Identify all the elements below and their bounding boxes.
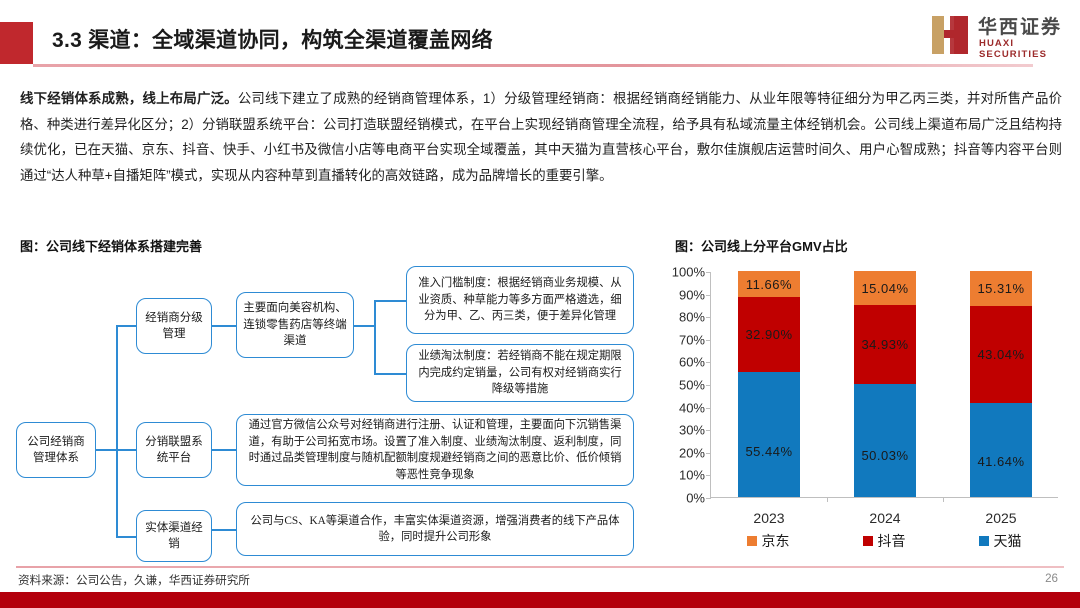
logo-english-text: HUAXI SECURITIES <box>979 38 1066 60</box>
chart-legend-label: 京东 <box>762 531 790 551</box>
chart-segment-label: 43.04% <box>977 347 1024 362</box>
chart-legend-item[interactable]: 抖音 <box>863 531 906 551</box>
chart-legend: 京东抖音天猫 <box>710 530 1058 552</box>
chart-bar-segment-天猫: 50.03% <box>854 384 916 497</box>
chart-segment-label: 15.31% <box>977 281 1024 296</box>
connector-spine <box>116 325 118 537</box>
chart-xtick-mark <box>943 497 944 502</box>
chart-legend-item[interactable]: 京东 <box>747 531 790 551</box>
connector-mid1-out <box>354 325 376 327</box>
logo-chinese-text: 华西证券 <box>978 12 1062 39</box>
diagram-box-mid1-label: 主要面向美容机构、连锁零售药店等终端渠道 <box>237 300 353 350</box>
chart-xtick-label: 2024 <box>840 510 930 526</box>
chart-segment-label: 34.93% <box>861 337 908 352</box>
body-lead: 线下经销体系成熟，线上布局广泛。 <box>20 91 238 106</box>
chart-legend-swatch <box>863 536 873 546</box>
page-title: 3.3 渠道：全域渠道协同，构筑全渠道覆盖网络 <box>52 24 493 54</box>
connector-l3-mid3 <box>212 529 237 531</box>
chart-ytick-mark <box>706 272 711 273</box>
chart-ytick-mark <box>706 317 711 318</box>
diagram-box-detail2-label: 业绩淘汰制度：若经销商不能在规定期限内完成约定销量，公司有权对经销商实行降级等措… <box>407 348 633 398</box>
chart-xtick-label: 2025 <box>956 510 1046 526</box>
figure-caption-right: 图：公司线上分平台GMV占比 <box>675 236 848 255</box>
chart-segment-label: 55.44% <box>745 444 792 459</box>
chart-xtick-label: 2023 <box>724 510 814 526</box>
diagram-box-level1-1: 分销联盟系统平台 <box>136 422 212 478</box>
figure-caption-left: 图：公司线下经销体系搭建完善 <box>20 236 202 255</box>
logo-h-mark <box>930 14 974 56</box>
chart-ytick-label: 40% <box>659 400 705 415</box>
chart-legend-swatch <box>747 536 757 546</box>
chart-segment-label: 11.66% <box>746 277 792 292</box>
chart-ytick-label: 60% <box>659 355 705 370</box>
diagram-box-mid2: 通过官方微信公众号对经销商进行注册、认证和管理，主要面向下沉销售渠道，有助于公司… <box>236 414 634 486</box>
connector-detail-spine <box>374 300 376 373</box>
diagram-box-level1-2-label: 实体渠道经销 <box>137 520 211 552</box>
diagram-box-detail2: 业绩淘汰制度：若经销商不能在规定期限内完成约定销量，公司有权对经销商实行降级等措… <box>406 344 634 402</box>
chart-ytick-label: 0% <box>659 491 705 506</box>
chart-ytick-label: 70% <box>659 332 705 347</box>
chart-ytick-label: 30% <box>659 423 705 438</box>
connector-to-l1 <box>116 325 137 327</box>
chart-ytick-mark <box>706 340 711 341</box>
footer-divider <box>16 566 1064 568</box>
connector-to-detail1 <box>374 300 407 302</box>
chart-segment-label: 15.04% <box>861 281 908 296</box>
connector-to-detail2 <box>374 373 407 375</box>
chart-bar: 55.44%32.90%11.66% <box>738 271 800 497</box>
diagram-box-root-label: 公司经销商管理体系 <box>17 434 95 466</box>
gmv-share-chart: 0%10%20%30%40%50%60%70%80%90%100%55.44%3… <box>662 264 1074 560</box>
diagram-box-level1-1-label: 分销联盟系统平台 <box>137 434 211 466</box>
chart-ytick-label: 90% <box>659 287 705 302</box>
distribution-system-diagram: 公司经销商管理体系 经销商分级管理 分销联盟系统平台 实体渠道经销 主要面向美容… <box>14 262 654 562</box>
diagram-box-level1-0: 经销商分级管理 <box>136 298 212 354</box>
diagram-box-root: 公司经销商管理体系 <box>16 422 96 478</box>
diagram-box-mid1: 主要面向美容机构、连锁零售药店等终端渠道 <box>236 292 354 358</box>
chart-bar-segment-天猫: 55.44% <box>738 372 800 497</box>
chart-bar: 50.03%34.93%15.04% <box>854 271 916 497</box>
chart-ytick-mark <box>706 475 711 476</box>
chart-ytick-label: 50% <box>659 378 705 393</box>
diagram-box-mid3: 公司与CS、KA等渠道合作，丰富实体渠道资源，增强消费者的线下产品体验，同时提升… <box>236 502 634 556</box>
chart-segment-label: 50.03% <box>861 448 908 463</box>
footer-page-number: 26 <box>1045 572 1058 585</box>
chart-ytick-label: 80% <box>659 310 705 325</box>
chart-ytick-label: 10% <box>659 468 705 483</box>
chart-ytick-mark <box>706 430 711 431</box>
chart-segment-label: 32.90% <box>745 327 792 342</box>
chart-bar-segment-京东: 11.66% <box>738 271 800 297</box>
connector-l2-mid2 <box>212 449 237 451</box>
diagram-box-detail1-label: 准入门槛制度：根据经销商业务规模、从业资质、种草能力等多方面严格遴选，细分为甲、… <box>407 275 633 325</box>
chart-ytick-label: 20% <box>659 445 705 460</box>
chart-bar-segment-抖音: 34.93% <box>854 305 916 384</box>
chart-ytick-mark <box>706 408 711 409</box>
chart-ytick-mark <box>706 362 711 363</box>
chart-legend-swatch <box>979 536 989 546</box>
chart-segment-label: 41.64% <box>977 454 1024 469</box>
connector-to-l3 <box>116 536 137 538</box>
title-accent-block <box>0 22 33 64</box>
chart-bar-segment-抖音: 32.90% <box>738 297 800 371</box>
chart-bar: 41.64%43.04%15.31% <box>970 271 1032 497</box>
chart-bar-segment-天猫: 41.64% <box>970 403 1032 497</box>
body-paragraph: 线下经销体系成熟，线上布局广泛。公司线下建立了成熟的经销商管理体系，1）分级管理… <box>20 86 1062 188</box>
chart-ytick-mark <box>706 453 711 454</box>
diagram-box-level1-2: 实体渠道经销 <box>136 510 212 562</box>
chart-ytick-mark <box>706 385 711 386</box>
diagram-box-detail1: 准入门槛制度：根据经销商业务规模、从业资质、种草能力等多方面严格遴选，细分为甲、… <box>406 266 634 334</box>
huaxi-logo: 华西证券 HUAXI SECURITIES <box>926 12 1066 58</box>
connector-root-out <box>96 449 118 451</box>
connector-l1-mid1 <box>212 325 237 327</box>
chart-ytick-label: 100% <box>659 265 705 280</box>
footer-source: 资料来源：公司公告，久谦，华西证券研究所 <box>18 572 250 588</box>
connector-to-l2 <box>116 449 137 451</box>
chart-bar-segment-京东: 15.31% <box>970 271 1032 306</box>
chart-xtick-mark <box>827 497 828 502</box>
diagram-box-mid3-label: 公司与CS、KA等渠道合作，丰富实体渠道资源，增强消费者的线下产品体验，同时提升… <box>237 513 633 546</box>
chart-bar-segment-京东: 15.04% <box>854 271 916 305</box>
chart-legend-label: 抖音 <box>878 531 906 551</box>
chart-legend-item[interactable]: 天猫 <box>979 531 1022 551</box>
diagram-box-mid2-label: 通过官方微信公众号对经销商进行注册、认证和管理，主要面向下沉销售渠道，有助于公司… <box>237 417 633 483</box>
chart-bar-segment-抖音: 43.04% <box>970 306 1032 403</box>
chart-ytick-mark <box>706 295 711 296</box>
title-divider <box>33 64 1033 67</box>
slide-header: 3.3 渠道：全域渠道协同，构筑全渠道覆盖网络 <box>0 22 1080 64</box>
chart-legend-label: 天猫 <box>994 531 1022 551</box>
chart-ytick-mark <box>706 498 711 499</box>
diagram-box-level1-0-label: 经销商分级管理 <box>137 310 211 342</box>
slide-root: 3.3 渠道：全域渠道协同，构筑全渠道覆盖网络 华西证券 HUAXI SECUR… <box>0 0 1080 608</box>
chart-plot-area: 0%10%20%30%40%50%60%70%80%90%100%55.44%3… <box>710 272 1058 498</box>
footer-bar <box>0 592 1080 608</box>
